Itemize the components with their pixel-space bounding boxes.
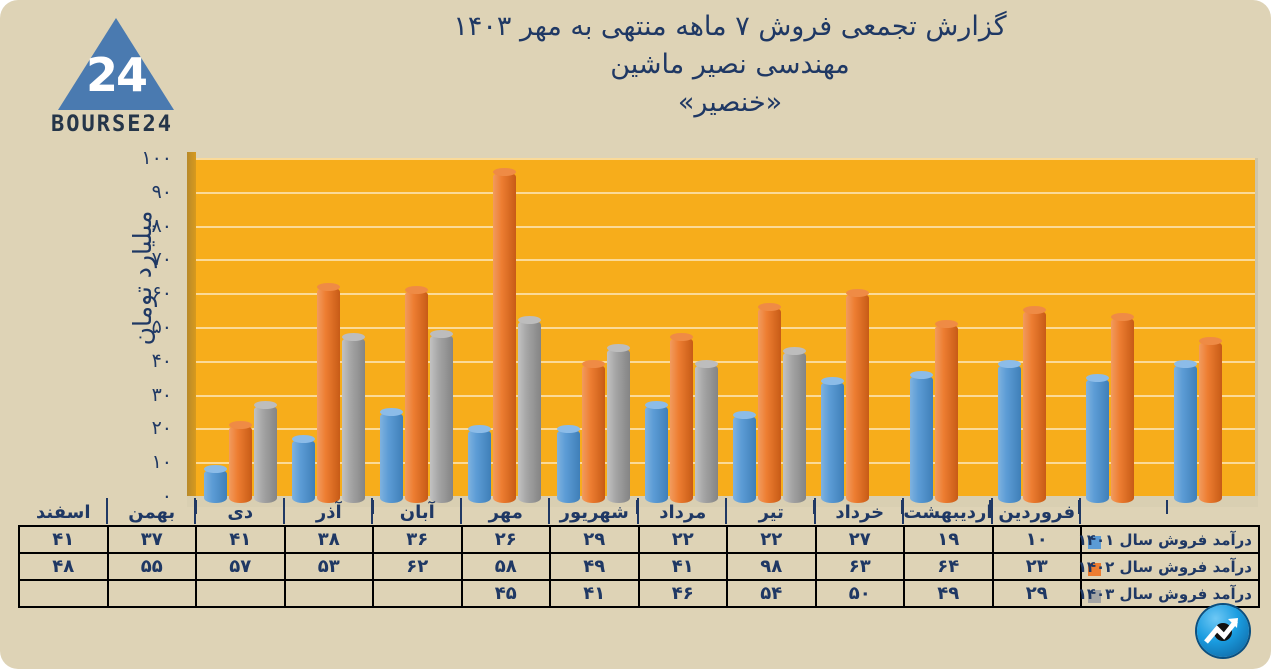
- trending-up-glyph: [1203, 612, 1243, 650]
- bar-1[interactable]: [998, 364, 1021, 503]
- bar-2[interactable]: [1023, 310, 1046, 503]
- table-cell: ۶۴: [904, 553, 993, 580]
- table-cell: ۵۰: [816, 580, 905, 607]
- table-month-header: اسفند: [19, 500, 108, 526]
- title-line-1: گزارش تجمعی فروش ۷ ماهه منتهی به مهر ۱۴۰…: [210, 8, 1250, 46]
- table-corner: [1081, 500, 1259, 526]
- trending-up-icon[interactable]: [1197, 605, 1249, 657]
- header-separator: [1079, 498, 1081, 524]
- bar-2[interactable]: [582, 364, 605, 503]
- y-axis-ticks: ۰۱۰۲۰۳۰۴۰۵۰۶۰۷۰۸۰۹۰۱۰۰: [100, 152, 176, 500]
- table-cell: ۴۱: [550, 580, 639, 607]
- bar-1[interactable]: [1174, 364, 1197, 503]
- bar-group: [902, 158, 990, 496]
- header-separator: [194, 498, 196, 524]
- bar-cap: [821, 377, 844, 385]
- bar-1[interactable]: [292, 439, 315, 503]
- bar-cap: [645, 401, 668, 409]
- bourse24-logo: 24 BOURSE24: [28, 18, 196, 143]
- y-axis-tick-label: ۸۰: [100, 215, 172, 237]
- bar-cap: [1086, 374, 1109, 382]
- bar-1[interactable]: [1086, 378, 1109, 503]
- bar-cap: [695, 360, 718, 368]
- legend-cell: درآمد فروش سال ۱۴۰۱: [1081, 526, 1259, 553]
- bar-cap: [557, 425, 580, 433]
- table-cell: ۵۴: [727, 580, 816, 607]
- table-row: درآمد فروش سال ۱۴۰۲۲۳۶۴۶۳۹۸۴۱۴۹۵۸۶۲۵۳۵۷۵…: [19, 553, 1259, 580]
- header-separator: [902, 498, 904, 524]
- table-cell: [196, 580, 285, 607]
- bar-group: [1079, 158, 1167, 496]
- bar-1[interactable]: [910, 375, 933, 503]
- table-head: فروردیناردیبهشتخردادتیرمردادشهریورمهرآبا…: [19, 500, 1259, 526]
- title-line-3: «خنصیر»: [210, 84, 1250, 122]
- bar-1[interactable]: [645, 405, 668, 503]
- bar-groups: [196, 158, 1255, 496]
- logo-wordmark: BOURSE24: [28, 112, 196, 137]
- bar-group: [549, 158, 637, 496]
- bar-2[interactable]: [493, 172, 516, 503]
- table-cell: [285, 580, 374, 607]
- y-axis-tick-label: ۱۰۰: [100, 147, 172, 169]
- bar-2[interactable]: [758, 307, 781, 503]
- legend-cell: درآمد فروش سال ۱۴۰۳: [1081, 580, 1259, 607]
- table-cell: ۴۹: [904, 580, 993, 607]
- table-month-header: خرداد: [816, 500, 905, 526]
- table-cell: ۲۷: [816, 526, 905, 553]
- table-cell: ۴۱: [19, 526, 108, 553]
- plot-area: [196, 158, 1258, 496]
- bar-2[interactable]: [670, 337, 693, 503]
- bar-group: [373, 158, 461, 496]
- bar-2[interactable]: [317, 287, 340, 503]
- chart-area: میلیارد تومان ۰۱۰۲۰۳۰۴۰۵۰۶۰۷۰۸۰۹۰۱۰۰: [100, 152, 1265, 500]
- bar-group: [461, 158, 549, 496]
- bar-2[interactable]: [935, 324, 958, 503]
- bar-3[interactable]: [783, 351, 806, 503]
- y-axis-tick-label: ۷۰: [100, 248, 172, 270]
- bar-cap: [1023, 306, 1046, 314]
- bar-1[interactable]: [557, 429, 580, 503]
- bar-cap: [518, 316, 541, 324]
- bar-group: [196, 158, 284, 496]
- table-cell: ۴۶: [639, 580, 728, 607]
- table-month-header: آبان: [373, 500, 462, 526]
- bar-2[interactable]: [846, 293, 869, 503]
- bar-cap: [582, 360, 605, 368]
- table-month-header: بهمن: [108, 500, 197, 526]
- bar-1[interactable]: [204, 469, 227, 503]
- table-cell: ۱۹: [904, 526, 993, 553]
- table-cell: ۲۹: [993, 580, 1082, 607]
- bar-group: [637, 158, 725, 496]
- chart-title: گزارش تجمعی فروش ۷ ماهه منتهی به مهر ۱۴۰…: [210, 8, 1250, 122]
- table-cell: ۴۱: [639, 553, 728, 580]
- bar-group: [726, 158, 814, 496]
- table-month-header: مرداد: [639, 500, 728, 526]
- header-separator: [371, 498, 373, 524]
- header-separator: [637, 498, 639, 524]
- bar-1[interactable]: [468, 429, 491, 503]
- table-cell: ۵۵: [108, 553, 197, 580]
- bar-2[interactable]: [229, 425, 252, 503]
- table-cell: ۲۲: [639, 526, 728, 553]
- header-separator: [814, 498, 816, 524]
- y-axis-tick-label: ۴۰: [100, 350, 172, 372]
- bar-group: [284, 158, 372, 496]
- table-month-header: شهریور: [550, 500, 639, 526]
- bar-cap: [783, 347, 806, 355]
- logo-number: 24: [74, 42, 158, 108]
- table-cell: ۱۰: [993, 526, 1082, 553]
- bar-cap: [607, 344, 630, 352]
- bar-2[interactable]: [405, 290, 428, 503]
- header-separator: [106, 498, 108, 524]
- bar-1[interactable]: [821, 381, 844, 503]
- table-body: درآمد فروش سال ۱۴۰۱۱۰۱۹۲۷۲۲۲۲۲۹۲۶۳۶۳۸۴۱۳…: [19, 526, 1259, 607]
- header-separator: [725, 498, 727, 524]
- bar-cap: [1199, 337, 1222, 345]
- table-cell: [19, 580, 108, 607]
- table-month-header: آذر: [285, 500, 374, 526]
- bar-cap: [846, 289, 869, 297]
- table-month-header: تیر: [727, 500, 816, 526]
- plot-left-wall: [187, 152, 196, 496]
- bar-cap: [1174, 360, 1197, 368]
- table-month-header: فروردین: [993, 500, 1082, 526]
- table-cell: ۲۶: [462, 526, 551, 553]
- bar-cap: [430, 330, 453, 338]
- legend-label: درآمد فروش سال ۱۴۰۳: [1078, 585, 1252, 603]
- table-cell: ۳۸: [285, 526, 374, 553]
- table-cell: ۹۸: [727, 553, 816, 580]
- bar-group: [814, 158, 902, 496]
- bar-cap: [405, 286, 428, 294]
- header-separator: [991, 498, 993, 524]
- bar-cap: [342, 333, 365, 341]
- bar-3[interactable]: [254, 405, 277, 503]
- bar-cap: [229, 421, 252, 429]
- table-cell: ۴۵: [462, 580, 551, 607]
- bar-cap: [204, 465, 227, 473]
- table-cell: ۳۷: [108, 526, 197, 553]
- bar-cap: [998, 360, 1021, 368]
- title-line-2: مهندسی نصیر ماشین: [210, 46, 1250, 84]
- bar-3[interactable]: [607, 348, 630, 503]
- y-axis-tick-label: ۱۰: [100, 451, 172, 473]
- legend-label: درآمد فروش سال ۱۴۰۱: [1078, 531, 1252, 549]
- table-cell: ۴۱: [196, 526, 285, 553]
- table-cell: ۵۸: [462, 553, 551, 580]
- table-row: درآمد فروش سال ۱۴۰۱۱۰۱۹۲۷۲۲۲۲۲۹۲۶۳۶۳۸۴۱۳…: [19, 526, 1259, 553]
- table-cell: ۶۲: [373, 553, 462, 580]
- bar-cap: [254, 401, 277, 409]
- table-cell: [373, 580, 462, 607]
- bar-cap: [317, 283, 340, 291]
- bar-cap: [670, 333, 693, 341]
- bar-cap: [758, 303, 781, 311]
- table-row: درآمد فروش سال ۱۴۰۳۲۹۴۹۵۰۵۴۴۶۴۱۴۵: [19, 580, 1259, 607]
- bar-group: [990, 158, 1078, 496]
- table-month-header: دی: [196, 500, 285, 526]
- bar-cap: [292, 435, 315, 443]
- bar-1[interactable]: [380, 412, 403, 503]
- bar-3[interactable]: [430, 334, 453, 503]
- bar-3[interactable]: [342, 337, 365, 503]
- table-cell: ۴۸: [19, 553, 108, 580]
- table-cell: ۲۲: [727, 526, 816, 553]
- table-cell: ۵۳: [285, 553, 374, 580]
- month-header-row: فروردیناردیبهشتخردادتیرمردادشهریورمهرآبا…: [19, 500, 1259, 526]
- table-month-header: اردیبهشت: [904, 500, 993, 526]
- data-table: فروردیناردیبهشتخردادتیرمردادشهریورمهرآبا…: [18, 500, 1260, 608]
- bar-2[interactable]: [1199, 341, 1222, 503]
- table-cell: ۵۷: [196, 553, 285, 580]
- y-axis-tick-label: ۹۰: [100, 181, 172, 203]
- bar-1[interactable]: [733, 415, 756, 503]
- bar-cap: [935, 320, 958, 328]
- y-axis-tick-label: ۵۰: [100, 316, 172, 338]
- bar-cap: [380, 408, 403, 416]
- table-cell: ۴۹: [550, 553, 639, 580]
- legend-label: درآمد فروش سال ۱۴۰۲: [1078, 558, 1252, 576]
- table-cell: ۲۹: [550, 526, 639, 553]
- chart-page: 24 BOURSE24 گزارش تجمعی فروش ۷ ماهه منته…: [0, 0, 1271, 669]
- header-separator: [283, 498, 285, 524]
- y-axis-tick-label: ۶۰: [100, 282, 172, 304]
- table-month-header: مهر: [462, 500, 551, 526]
- y-axis-tick-label: ۲۰: [100, 417, 172, 439]
- bar-cap: [468, 425, 491, 433]
- header-separator: [548, 498, 550, 524]
- table-cell: ۲۳: [993, 553, 1082, 580]
- legend-cell: درآمد فروش سال ۱۴۰۲: [1081, 553, 1259, 580]
- bar-group: [1167, 158, 1255, 496]
- table-cell: [108, 580, 197, 607]
- bar-cap: [910, 371, 933, 379]
- chart-data-table: فروردیناردیبهشتخردادتیرمردادشهریورمهرآبا…: [18, 500, 1260, 608]
- bar-cap: [493, 168, 516, 176]
- bar-3[interactable]: [518, 320, 541, 503]
- bar-3[interactable]: [695, 364, 718, 503]
- table-cell: ۶۳: [816, 553, 905, 580]
- bar-cap: [733, 411, 756, 419]
- table-cell: ۳۶: [373, 526, 462, 553]
- bar-2[interactable]: [1111, 317, 1134, 503]
- bar-cap: [1111, 313, 1134, 321]
- y-axis-tick-label: ۳۰: [100, 384, 172, 406]
- header-separator: [460, 498, 462, 524]
